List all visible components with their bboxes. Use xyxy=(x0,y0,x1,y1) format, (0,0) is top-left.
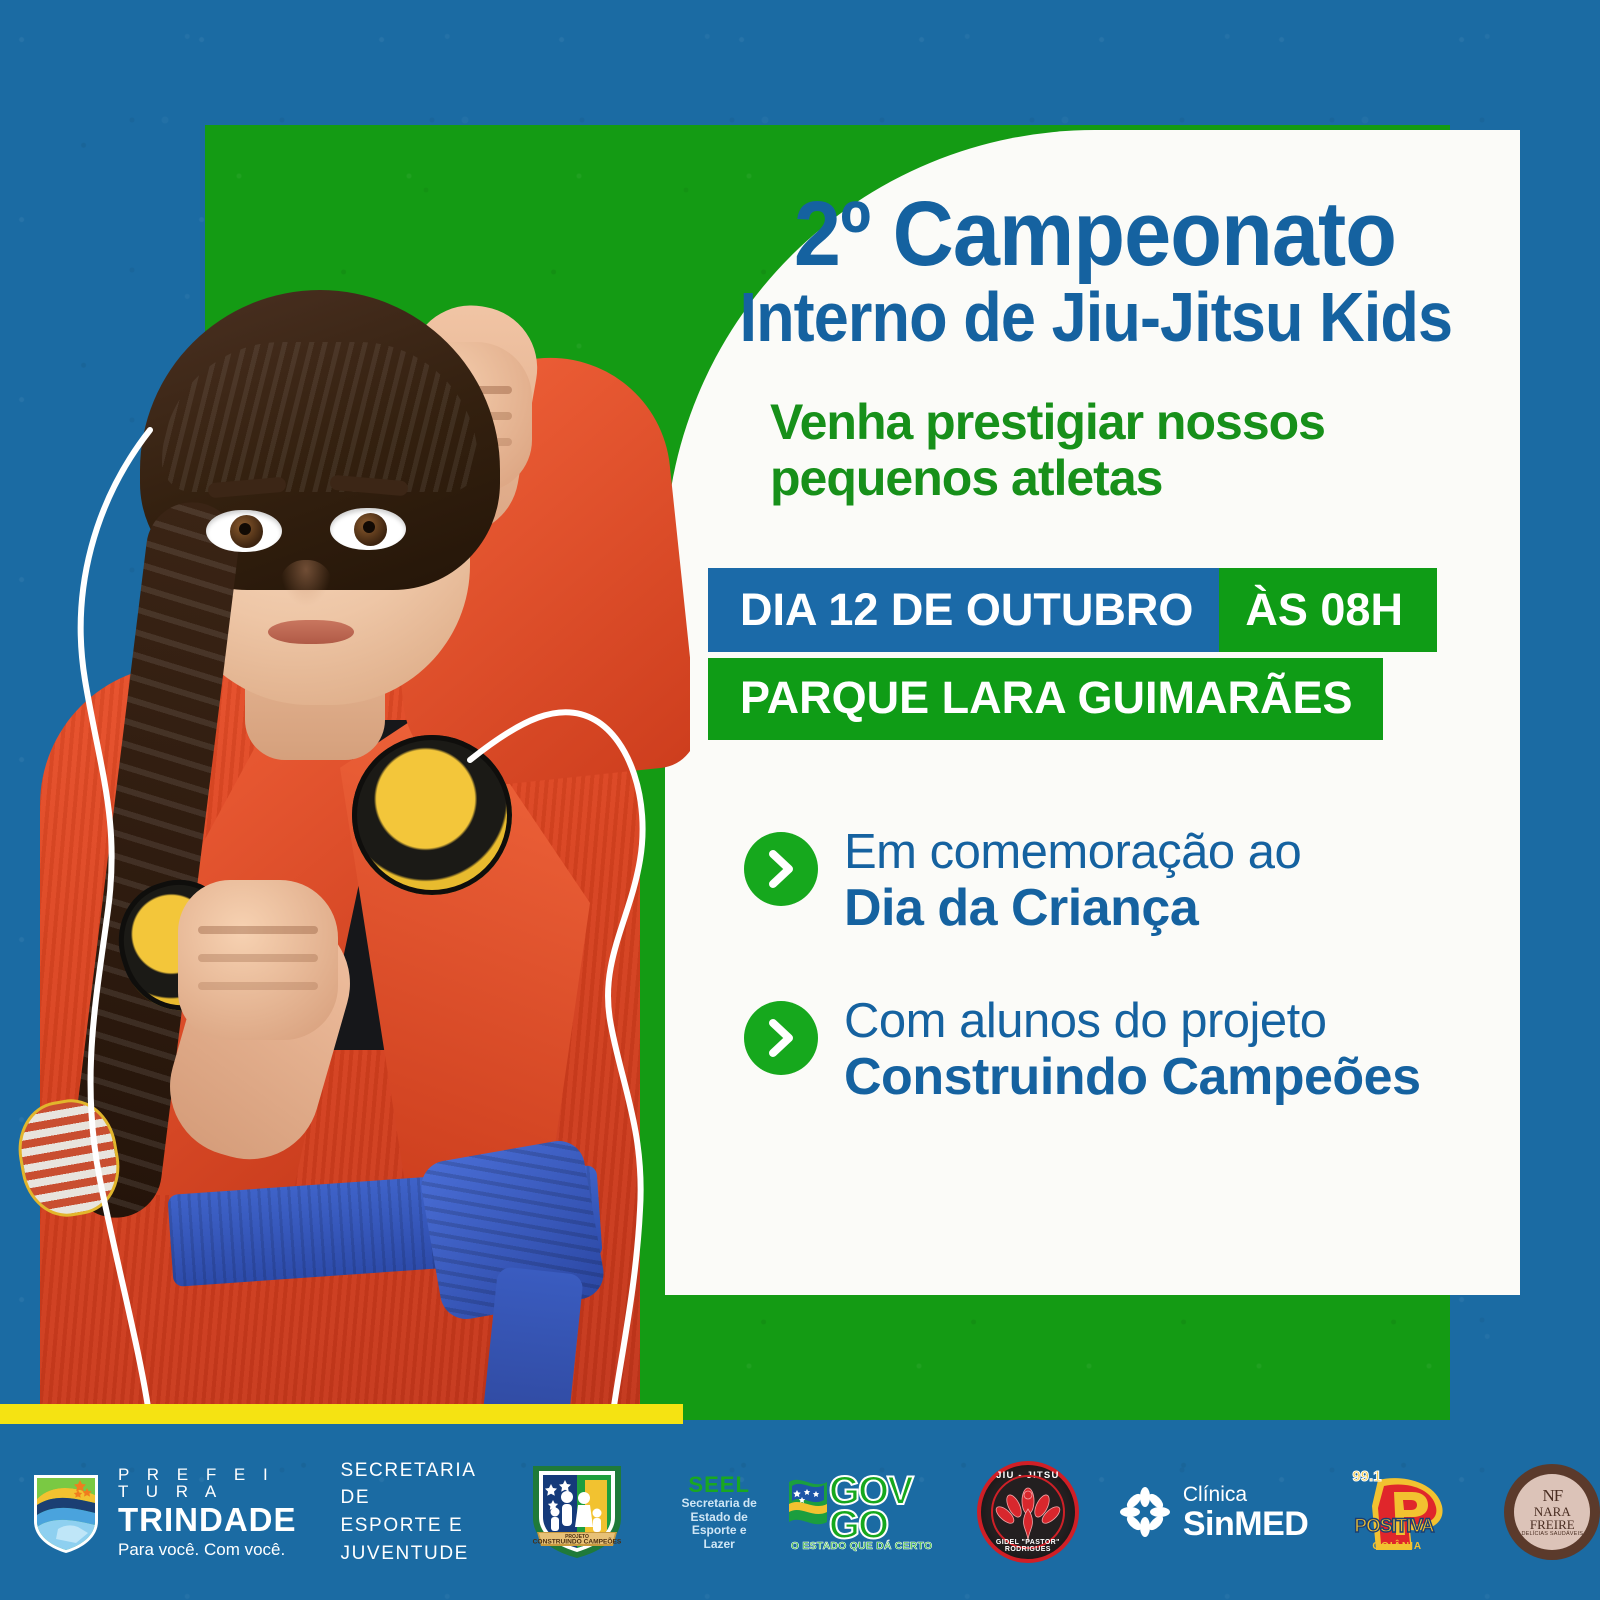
bullet-1-strong: Construindo Campeões xyxy=(844,1049,1421,1106)
seel-sub2: Estado de xyxy=(681,1511,756,1524)
nara-line1: NARA xyxy=(1534,1505,1571,1518)
event-time-badge: ÀS 08H xyxy=(1219,568,1437,652)
list-item: Em comemoração ao Dia da Criança xyxy=(744,826,1490,937)
event-subtitle-line2: pequenos atletas xyxy=(770,450,1490,506)
athlete-photo xyxy=(0,120,690,1420)
positiva-word: POSITIVA xyxy=(1354,1516,1433,1538)
positiva-frequency: 99.1 xyxy=(1352,1468,1381,1485)
footer-logos: P R E F E I T U R A TRINDADE Para você. … xyxy=(0,1424,1600,1600)
nara-freire-inner: NF NARA FREIRE DELÍCIAS SAUDÁVEIS xyxy=(1514,1474,1590,1550)
trindade-label: TRINDADE xyxy=(118,1503,297,1536)
projeto-construindo-campeoes-logo: PROJETO CONSTRUINDO CAMPEÕES xyxy=(529,1462,625,1562)
seel-logo: SEEL Secretaria de Estado de Esporte e L… xyxy=(681,1473,756,1551)
nose xyxy=(280,560,332,608)
trindade-wordmark: P R E F E I T U R A TRINDADE Para você. … xyxy=(118,1466,297,1558)
sinmed-wordmark: Clínica SinMED xyxy=(1183,1484,1308,1541)
seel-sub4: Lazer xyxy=(681,1538,756,1551)
event-subtitle: Venha prestigiar nossos pequenos atletas xyxy=(700,394,1490,506)
seel-title: SEEL xyxy=(681,1473,756,1498)
kid-illustration xyxy=(0,120,690,1420)
fist-lower xyxy=(178,880,338,1040)
eye-right xyxy=(330,508,406,550)
eye-left xyxy=(206,510,282,552)
event-title-line2: Interno de Jiu-Jitsu Kids xyxy=(740,282,1451,353)
gov-go-tagline: O ESTADO QUE DÁ CERTO xyxy=(791,1540,933,1552)
event-content: 2º Campeonato Interno de Jiu-Jitsu Kids … xyxy=(700,190,1490,1164)
event-title-line1: 2º Campeonato xyxy=(732,190,1459,278)
positiva-city: GOIÂNIA xyxy=(1372,1541,1422,1552)
jiu-jitsu-bottom-label: GIDEL "PASTOR" RODRIGUES xyxy=(981,1539,1075,1553)
event-bullets: Em comemoração ao Dia da Criança Com alu… xyxy=(700,826,1490,1106)
trindade-shield-icon xyxy=(28,1469,104,1555)
yellow-accent-bar xyxy=(0,1404,683,1424)
nara-line2: FREIRE xyxy=(1530,1518,1575,1531)
event-details: DIA 12 DE OUTUBRO ÀS 08H PARQUE LARA GUI… xyxy=(700,568,1490,740)
mouth xyxy=(268,620,354,644)
chevron-right-icon xyxy=(744,1001,818,1075)
event-place-badge: PARQUE LARA GUIMARÃES xyxy=(708,658,1383,740)
secretaria-line2: ESPORTE E JUVENTUDE xyxy=(341,1512,476,1567)
bullet-text: Com alunos do projeto Construindo Campeõ… xyxy=(844,995,1421,1106)
gov-go-logo: GOV GO O ESTADO QUE DÁ CERTO xyxy=(787,1470,937,1554)
positiva-goiania-logo: 99.1 POSITIVA GOIÂNIA xyxy=(1350,1466,1460,1558)
event-subtitle-line1: Venha prestigiar nossos xyxy=(770,394,1490,450)
nara-freire-logo: NF NARA FREIRE DELÍCIAS SAUDÁVEIS xyxy=(1504,1464,1600,1560)
secretaria-line1: SECRETARIA DE xyxy=(341,1457,476,1512)
footer-logo-strip: P R E F E I T U R A TRINDADE Para você. … xyxy=(0,1424,1600,1600)
poster-root: 2º Campeonato Interno de Jiu-Jitsu Kids … xyxy=(0,0,1600,1600)
bullet-0-text: Em comemoração ao xyxy=(844,825,1301,879)
sinmed-label: SinMED xyxy=(1183,1507,1308,1541)
secretaria-esporte-juventude: SECRETARIA DE ESPORTE E JUVENTUDE xyxy=(341,1457,476,1567)
chevron-right-icon xyxy=(744,832,818,906)
svg-text:CONSTRUINDO CAMPEÕES: CONSTRUINDO CAMPEÕES xyxy=(533,1537,622,1546)
trindade-tagline: Para você. Com você. xyxy=(118,1541,297,1558)
prefeitura-label: P R E F E I T U R A xyxy=(118,1466,297,1500)
nara-monogram: NF xyxy=(1542,1487,1562,1504)
prefeitura-trindade-logo: P R E F E I T U R A TRINDADE Para você. … xyxy=(28,1466,297,1558)
sinmed-flower-icon xyxy=(1119,1486,1171,1538)
jiu-jitsu-logo: JIU - JITSU GIDEL "PASTOR" RODRIGUES xyxy=(977,1461,1079,1563)
bullet-text: Em comemoração ao Dia da Criança xyxy=(844,826,1301,937)
gov-go-wordmark: GOV GO xyxy=(829,1474,912,1543)
nara-sub: DELÍCIAS SAUDÁVEIS xyxy=(1521,1532,1583,1538)
bullet-1-text: Com alunos do projeto xyxy=(844,994,1327,1048)
clinica-label: Clínica xyxy=(1183,1484,1308,1505)
seel-sub3: Esporte e xyxy=(681,1524,756,1537)
go-label: GO xyxy=(829,1508,912,1542)
iris-left xyxy=(230,515,263,548)
gi-patch-chest xyxy=(352,735,512,895)
bullet-0-strong: Dia da Criança xyxy=(844,880,1301,937)
iris-right xyxy=(354,513,387,546)
seel-sub1: Secretaria de xyxy=(681,1497,756,1510)
date-time-row: DIA 12 DE OUTUBRO ÀS 08H xyxy=(708,568,1490,652)
event-date-badge: DIA 12 DE OUTUBRO xyxy=(708,568,1219,652)
clinica-sinmed-logo: Clínica SinMED xyxy=(1119,1484,1308,1541)
list-item: Com alunos do projeto Construindo Campeõ… xyxy=(744,995,1490,1106)
